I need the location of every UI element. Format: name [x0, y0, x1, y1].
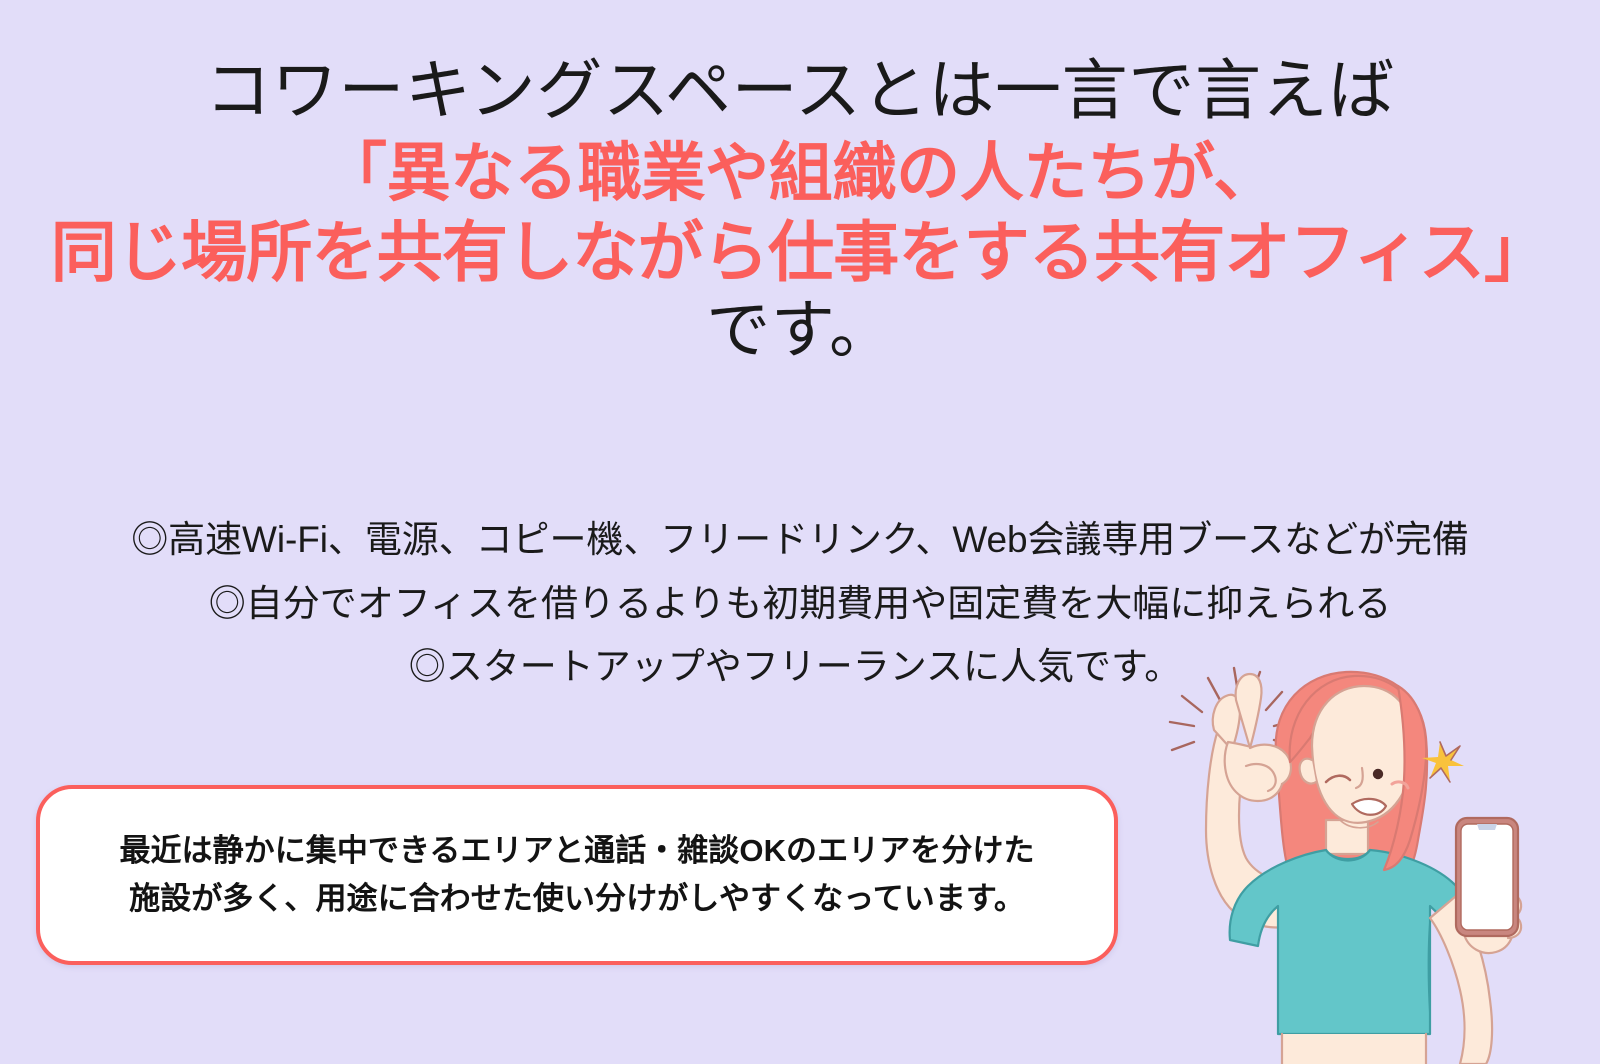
feature-bullet-list: ◎高速Wi-Fi、電源、コピー機、フリードリンク、Web会議専用ブースなどが完備…	[0, 508, 1600, 699]
feature-bullet-item: ◎自分でオフィスを借りるよりも初期費用や固定費を大幅に抑えられる	[0, 572, 1600, 636]
hair-back	[1276, 672, 1427, 874]
smartphone-icon	[1456, 818, 1518, 936]
feature-bullet-item: ◎スタートアップやフリーランスに人気です。	[0, 635, 1600, 699]
tshirt-collar	[1326, 850, 1370, 861]
winking-eye	[1326, 776, 1350, 782]
callout-line-2: 施設が多く、用途に合わせた使い分けがしやすくなっています。	[129, 875, 1025, 923]
raised-arm	[1206, 730, 1302, 927]
slide-canvas: コワーキングスペースとは一言で言えば 「異なる職業や組織の人たちが、 同じ場所を…	[0, 0, 1600, 1064]
nose	[1356, 768, 1363, 788]
neck	[1326, 820, 1368, 854]
ear	[1300, 759, 1316, 784]
headline-line-4: です。	[0, 295, 1600, 367]
feature-bullet-item: ◎高速Wi-Fi、電源、コピー機、フリードリンク、Web会議専用ブースなどが完備	[0, 508, 1600, 572]
headline-line-2-highlight: 「異なる職業や組織の人たちが、	[0, 134, 1600, 212]
headline-block: コワーキングスペースとは一言で言えば 「異なる職業や組織の人たちが、 同じ場所を…	[0, 54, 1600, 366]
holding-hand	[1463, 903, 1513, 953]
chin-line	[1340, 820, 1378, 828]
tshirt	[1230, 850, 1482, 1034]
face	[1312, 686, 1414, 823]
tshirt-fold	[1429, 922, 1431, 1014]
smiling-mouth	[1352, 799, 1386, 815]
callout-line-1: 最近は静かに集中できるエリアと通話・雑談OKのエリアを分けた	[119, 827, 1034, 875]
headline-line-1: コワーキングスペースとは一言で言えば	[0, 54, 1600, 128]
hair-side-strand	[1384, 686, 1426, 870]
headline-line-3-highlight: 同じ場所を共有しながら仕事をする共有オフィス」	[0, 212, 1600, 293]
open-eye	[1373, 769, 1383, 779]
callout-box: 最近は静かに集中できるエリアと通話・雑談OKのエリアを分けた 施設が多く、用途に…	[36, 785, 1118, 965]
midriff	[1282, 1034, 1426, 1064]
phone-arm	[1430, 896, 1492, 1064]
cheek-blush	[1392, 782, 1408, 788]
sparkle-star-icon	[1422, 742, 1464, 782]
